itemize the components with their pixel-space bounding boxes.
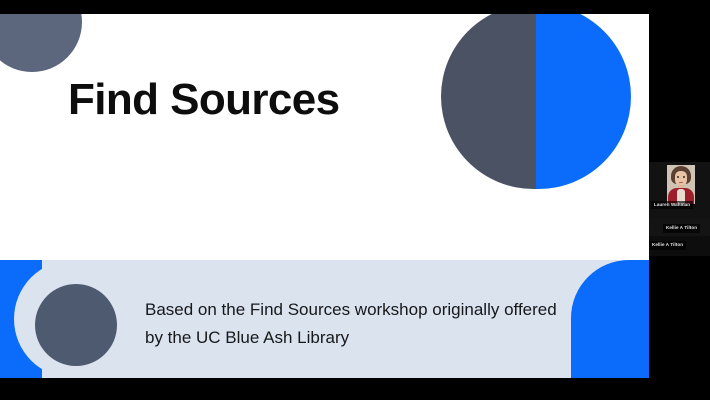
band-slate-circle-decoration [35, 284, 117, 366]
slide-subtitle: Based on the Find Sources workshop origi… [145, 296, 565, 351]
avatar [667, 165, 695, 204]
participant-filmstrip[interactable]: Lauren Wahman Kellie A Tilton Kellie A T… [649, 14, 710, 378]
video-call-screen: Find Sources Based on the Find Sources w… [0, 0, 710, 400]
letterbox-bar-top [0, 0, 710, 14]
participant-name-label: Lauren Wahman [651, 201, 693, 210]
participant-name-label: Kellie A Tilton [649, 241, 686, 250]
petal-right-blue-icon [536, 14, 631, 189]
petal-left-slate-icon [441, 14, 536, 189]
top-left-circle-decoration [0, 14, 82, 72]
participant-tile-lauren-wahman[interactable]: Lauren Wahman [649, 162, 710, 219]
participant-tile-kellie-a-tilton-2[interactable]: Kellie A Tilton [649, 236, 710, 256]
slide-bottom-band: Based on the Find Sources workshop origi… [0, 260, 649, 378]
letterbox-bar-bottom [0, 378, 710, 400]
tulip-petals-decoration [441, 14, 631, 189]
slide-title: Find Sources [68, 76, 340, 124]
participant-tile-kellie-a-tilton-1[interactable]: Kellie A Tilton [649, 219, 710, 236]
shared-presentation-slide[interactable]: Find Sources Based on the Find Sources w… [0, 14, 649, 378]
participant-name-label: Kellie A Tilton [663, 224, 700, 233]
